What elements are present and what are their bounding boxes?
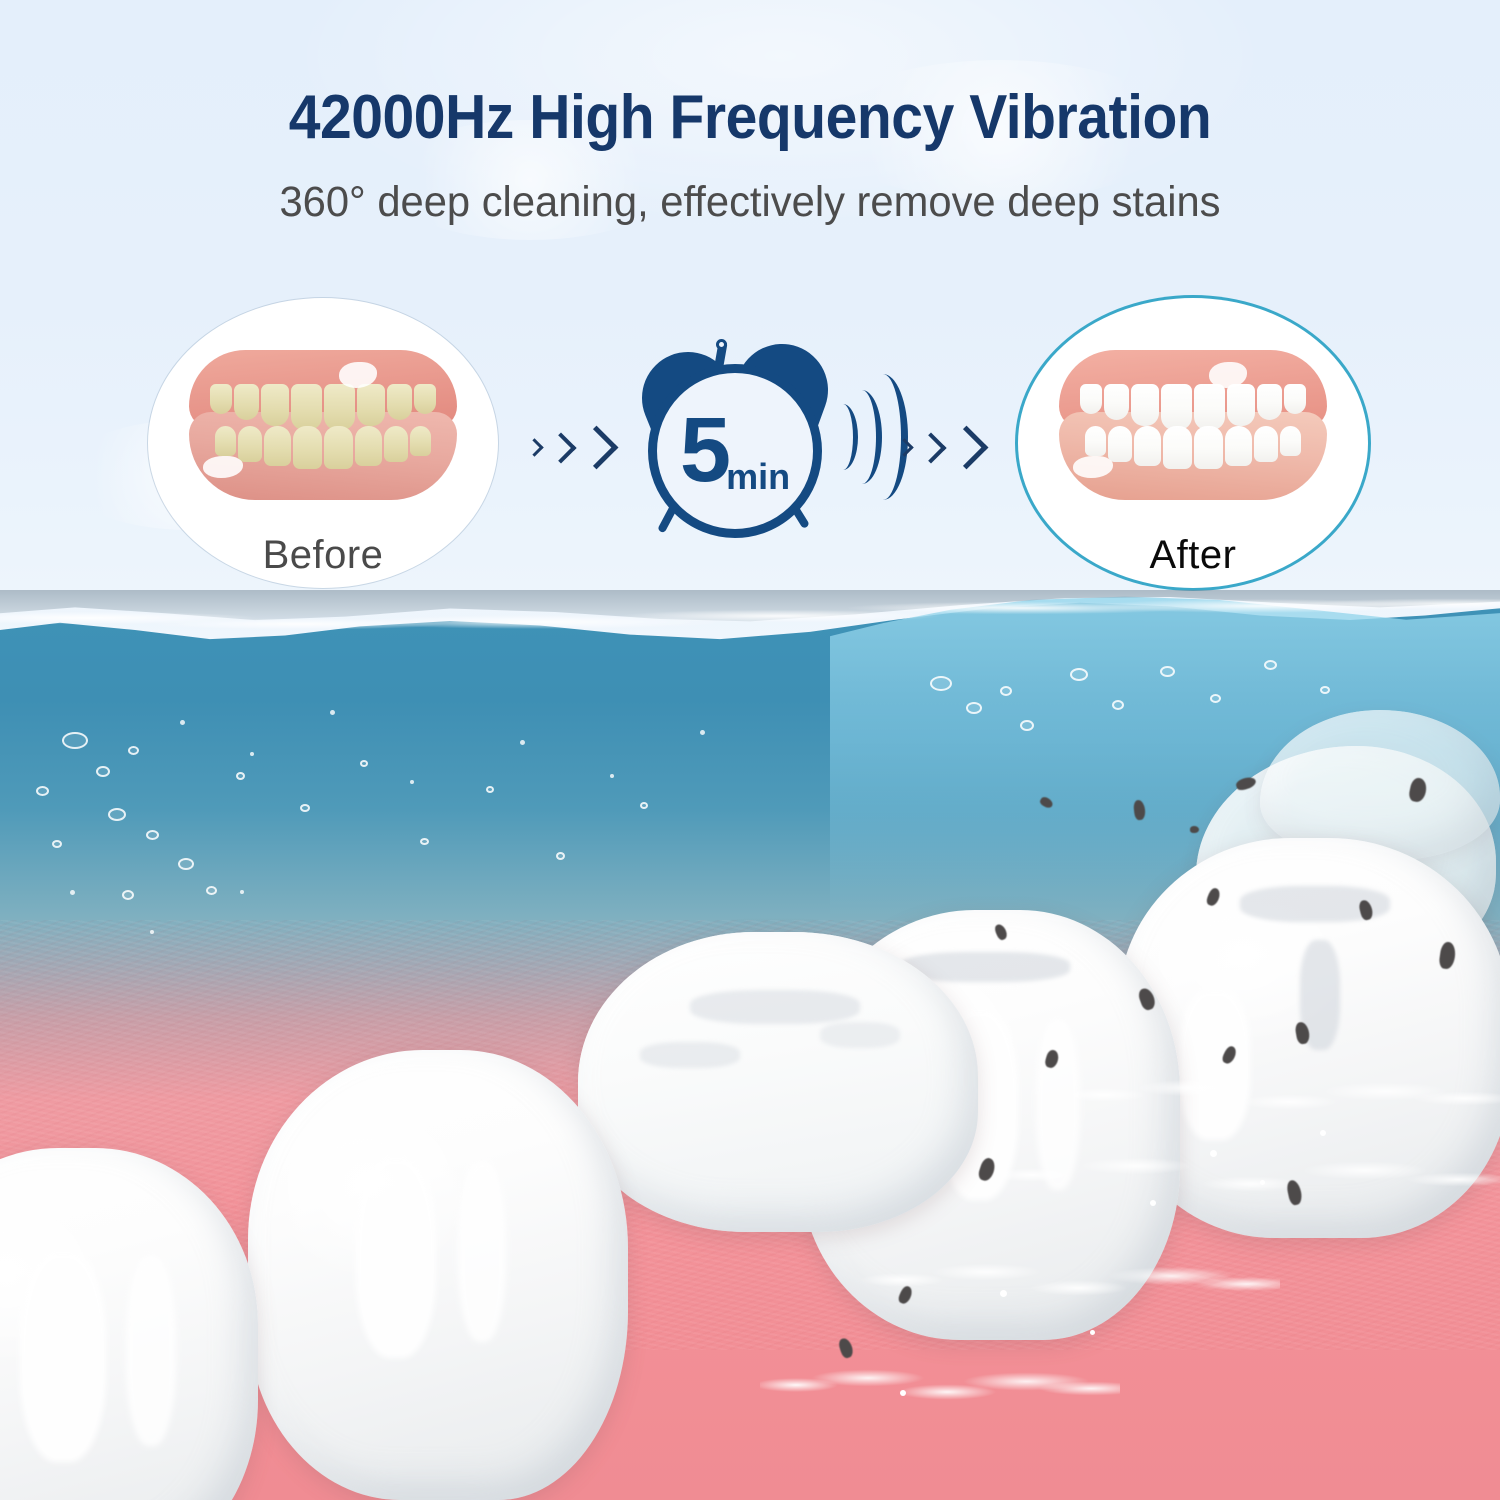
tooth (215, 426, 236, 456)
stain-particle (837, 1337, 855, 1360)
spray-droplet (1090, 1330, 1095, 1335)
tooth (1080, 384, 1102, 414)
tooth (1085, 426, 1106, 456)
molar-center (578, 932, 978, 1232)
after-panel: After (1018, 298, 1368, 588)
chevron-right-icon (525, 438, 543, 456)
timer-unit: min (726, 456, 790, 498)
tooth (414, 384, 436, 414)
clock-knob-ring (716, 339, 727, 350)
tooth (410, 426, 431, 456)
before-label: Before (148, 533, 498, 578)
tooth (324, 426, 353, 469)
denture-upper-teeth (199, 384, 447, 430)
tooth (1227, 384, 1255, 426)
tooth (1194, 384, 1225, 430)
page-title: 42000Hz High Frequency Vibration (60, 82, 1440, 153)
tooth (264, 426, 291, 466)
yellowed-denture-icon (189, 350, 457, 500)
denture-upper-teeth (1069, 384, 1317, 430)
tooth (355, 426, 382, 466)
tooth (1134, 426, 1161, 466)
page-subtitle: 360° deep cleaning, effectively remove d… (23, 178, 1478, 227)
stain-particle (1039, 795, 1055, 809)
timer-value: 5 (680, 413, 728, 488)
tooth (291, 384, 322, 430)
tooth (1163, 426, 1192, 469)
tooth (293, 426, 322, 469)
stain-particle (1133, 799, 1146, 820)
tooth (238, 426, 262, 462)
stain-particle (1190, 826, 1199, 833)
tooth (387, 384, 412, 420)
chevron-right-icon (545, 432, 576, 463)
spray-droplet (900, 1390, 906, 1396)
molar-left (248, 1050, 628, 1500)
tooth (1284, 384, 1306, 414)
tooth (384, 426, 408, 462)
tooth (1280, 426, 1301, 456)
tooth (1194, 426, 1223, 469)
tooth (1108, 426, 1132, 462)
flow-arrow-left (528, 432, 612, 463)
tooth (1254, 426, 1278, 462)
tooth (1104, 384, 1129, 420)
tooth (1161, 384, 1192, 430)
tooth (210, 384, 232, 414)
chevron-right-icon (575, 426, 619, 470)
before-panel: Before (148, 298, 498, 588)
whitened-denture-icon (1059, 350, 1327, 500)
water-spray (760, 1350, 1120, 1420)
tooth (1131, 384, 1159, 426)
tooth (234, 384, 259, 420)
tooth (1257, 384, 1282, 420)
tooth (261, 384, 289, 426)
molar-far-left (0, 1148, 258, 1500)
alarm-clock-icon: 5 min (620, 342, 890, 542)
clock-dial-text: 5 min (648, 364, 822, 538)
tooth (324, 384, 355, 430)
product-feature-graphic: 42000Hz High Frequency Vibration 360° de… (0, 0, 1500, 1500)
chevron-right-icon (945, 426, 989, 470)
after-label: After (1018, 533, 1368, 578)
tooth (1225, 426, 1252, 466)
chevron-right-icon (895, 438, 913, 456)
chevron-right-icon (915, 432, 946, 463)
tooth (357, 384, 385, 426)
clean-molar-teeth (0, 590, 1500, 1500)
flow-arrow-right (898, 432, 982, 463)
